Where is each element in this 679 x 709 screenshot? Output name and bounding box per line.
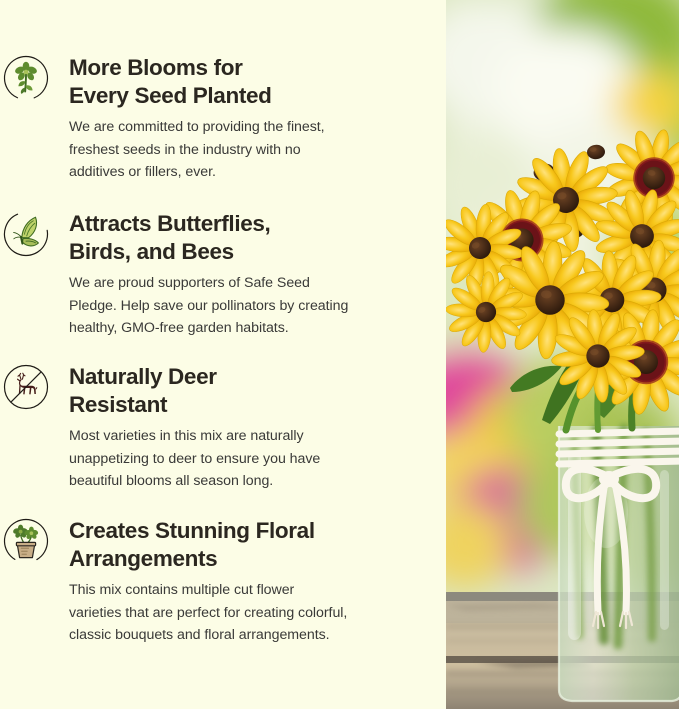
feature-title: Creates Stunning Floral Arrangements (69, 517, 409, 573)
black-eyed-susan-bouquet-photo (446, 0, 679, 709)
feature-title: More Blooms for Every Seed Planted (69, 54, 399, 110)
no-deer-icon (2, 363, 50, 411)
feature-body: Attracts Butterflies, Birds, and Bees We… (69, 210, 404, 340)
feature-body: Naturally Deer Resistant Most varieties … (69, 363, 389, 493)
feature-body: Creates Stunning Floral Arrangements Thi… (69, 517, 409, 647)
feature-description: Most varieties in this mix are naturally… (69, 425, 389, 493)
feature-title: Attracts Butterflies, Birds, and Bees (69, 210, 404, 266)
product-feature-panel: More Blooms for Every Seed Planted We ar… (0, 0, 679, 709)
butterfly-icon (2, 210, 50, 258)
feature-title: Naturally Deer Resistant (69, 363, 389, 419)
potted-plant-icon (2, 517, 50, 565)
feature-description: We are committed to providing the finest… (69, 116, 399, 184)
features-panel: More Blooms for Every Seed Planted We ar… (0, 0, 446, 709)
feature-description: This mix contains multiple cut flower va… (69, 579, 409, 647)
flower-sprout-icon (2, 54, 50, 102)
feature-body: More Blooms for Every Seed Planted We ar… (69, 54, 399, 184)
feature-description: We are proud supporters of Safe Seed Ple… (69, 272, 404, 340)
